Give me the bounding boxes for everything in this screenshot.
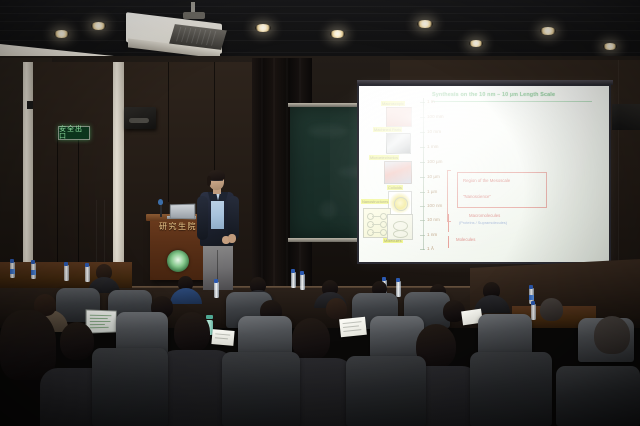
ceiling-light: [255, 24, 271, 32]
nanoscience-label: "Nanoscience": [463, 195, 491, 200]
tick-label: 1 Å: [427, 247, 434, 252]
thumbnail-caption: Colloids: [387, 185, 403, 190]
water-bottle: [85, 266, 90, 282]
water-bottle: [64, 265, 69, 281]
projection-screen: Synthesis on the 10 nm – 10 µm Length Sc…: [359, 86, 609, 262]
slide-thumbnail: [384, 161, 412, 184]
tick-label: 1 m: [427, 100, 435, 105]
molecules-label: Molecules: [456, 238, 475, 243]
handout-paper: [339, 317, 367, 338]
water-bottle: [531, 304, 536, 320]
wall-pillar: [113, 62, 124, 288]
bottle-cap: [214, 279, 218, 283]
ceiling-light: [330, 30, 345, 38]
university-emblem: [167, 250, 189, 272]
bottle-cap: [10, 259, 14, 263]
thumbnail-caption: Microelectronics: [369, 155, 399, 160]
bottle-cap: [531, 301, 535, 305]
slide-title-underline: [432, 101, 592, 102]
presenter-arm-left: [197, 196, 208, 240]
audience-head: [174, 312, 210, 352]
bottle-cap: [529, 285, 533, 289]
tick-label: 100 mm: [427, 115, 444, 120]
wall-pillar: [23, 62, 33, 288]
bottle-label: [529, 295, 534, 300]
audience-chair: [346, 356, 426, 426]
bottle-cap: [64, 262, 68, 266]
thumbnail-caption: Machined Parts: [373, 127, 402, 132]
water-bottle: [214, 282, 219, 298]
tick-label: 1 mm: [427, 145, 438, 150]
bottle-cap: [382, 277, 386, 281]
tick-label: 10 µm: [427, 175, 440, 180]
audience-head: [60, 322, 94, 360]
water-bottle: [291, 272, 296, 288]
molecules-arrow: [448, 236, 449, 248]
audience-chair: [470, 352, 552, 426]
speaker-bracket: [27, 101, 33, 109]
audience-head: [540, 298, 563, 321]
emergency-exit-sign: 安全出口: [58, 126, 90, 140]
audience-head: [594, 316, 630, 354]
tick-label: 1 nm: [427, 233, 437, 238]
length-scale-axis: [423, 98, 424, 250]
macromolecules-sublabel: (Proteins / Supramolecules): [459, 221, 507, 225]
slide-title: Synthesis on the 10 nm – 10 µm Length Sc…: [432, 93, 594, 99]
audience-chair: [556, 366, 640, 426]
mesoscale-heading: Region of the Mesoscale: [463, 179, 510, 184]
slide-thumbnail: [386, 133, 411, 154]
wall-speaker-right: [612, 104, 640, 130]
bottle-cap: [85, 263, 89, 267]
bottle-label: [10, 269, 15, 274]
thumbnail-caption: Macroscopic: [381, 101, 405, 106]
wall-wood-panel: [33, 62, 113, 288]
ceiling-light: [417, 20, 433, 28]
slide-thumbnail: [386, 107, 412, 127]
lecture-hall-photo: 安全出口 Synthesis on the 10 nm – 10 µm Leng…: [0, 0, 640, 426]
microphone-head: [158, 199, 163, 205]
tick-label: 100 nm: [427, 204, 442, 209]
presenter-hand-right: [228, 234, 236, 243]
thermos-cap: [206, 315, 213, 319]
ceiling-light: [91, 22, 106, 30]
water-bottle: [396, 281, 401, 297]
wall-speaker: [124, 107, 156, 129]
audience-head: [326, 298, 347, 319]
macromolecules-label: Macromolecules: [469, 214, 500, 219]
tick-label: 100 µm: [427, 160, 442, 165]
tick-label: 10 mm: [427, 130, 441, 135]
bottle-cap: [396, 278, 400, 282]
audience-chair: [222, 352, 300, 426]
exit-sign-label: 安全出口: [59, 126, 89, 140]
bottle-cap: [300, 271, 304, 275]
ceiling-light: [469, 40, 483, 47]
presenter-glasses: [210, 180, 223, 184]
tick-label: 10 nm: [427, 218, 440, 223]
thumbnail-caption: Nanostructures: [361, 199, 389, 204]
bottle-cap: [31, 260, 35, 264]
projector-mount-head: [183, 12, 205, 19]
bottle-cap: [291, 269, 295, 273]
ceiling-light: [603, 43, 617, 50]
slide-thumbnail: [387, 214, 413, 240]
bottle-label: [31, 270, 36, 275]
ceiling-light: [540, 27, 556, 35]
handout-paper: [211, 329, 234, 346]
tick-label: 1 µm: [427, 190, 437, 195]
audience-head: [0, 310, 56, 380]
macromolecule-arrow: [448, 214, 449, 232]
presenter-laptop: [170, 204, 195, 220]
water-bottle: [300, 274, 305, 290]
audience-chair: [92, 348, 168, 426]
speaker-grille: [129, 118, 149, 123]
ceiling-light: [54, 30, 69, 38]
slide-thumbnail: [388, 191, 412, 215]
audience-head: [292, 318, 330, 360]
